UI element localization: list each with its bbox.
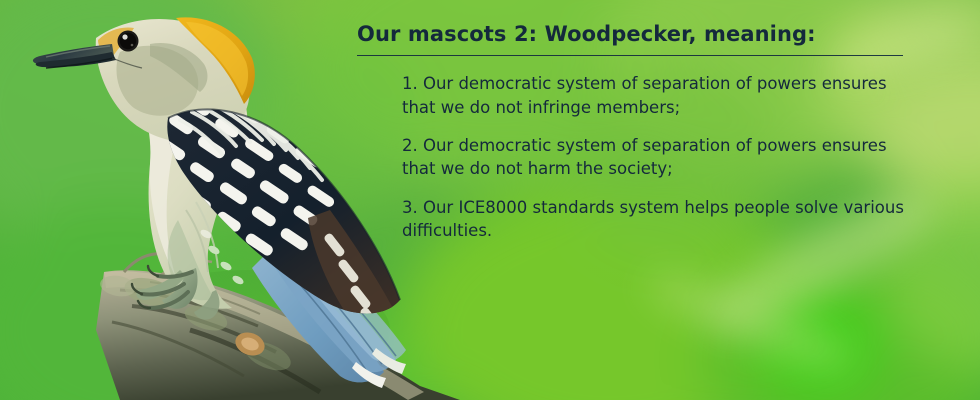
list-item: 3. Our ICE8000 standards system helps pe… (402, 196, 922, 243)
text-panel: Our mascots 2: Woodpecker, meaning: 1. O… (357, 22, 927, 243)
page-title: Our mascots 2: Woodpecker, meaning: (357, 22, 927, 47)
list-item: 2. Our democratic system of separation o… (402, 134, 922, 181)
list-item: 1. Our democratic system of separation o… (402, 72, 922, 119)
meaning-list: 1. Our democratic system of separation o… (357, 72, 927, 243)
title-divider (357, 55, 903, 56)
mascot-banner: Our mascots 2: Woodpecker, meaning: 1. O… (0, 0, 980, 400)
